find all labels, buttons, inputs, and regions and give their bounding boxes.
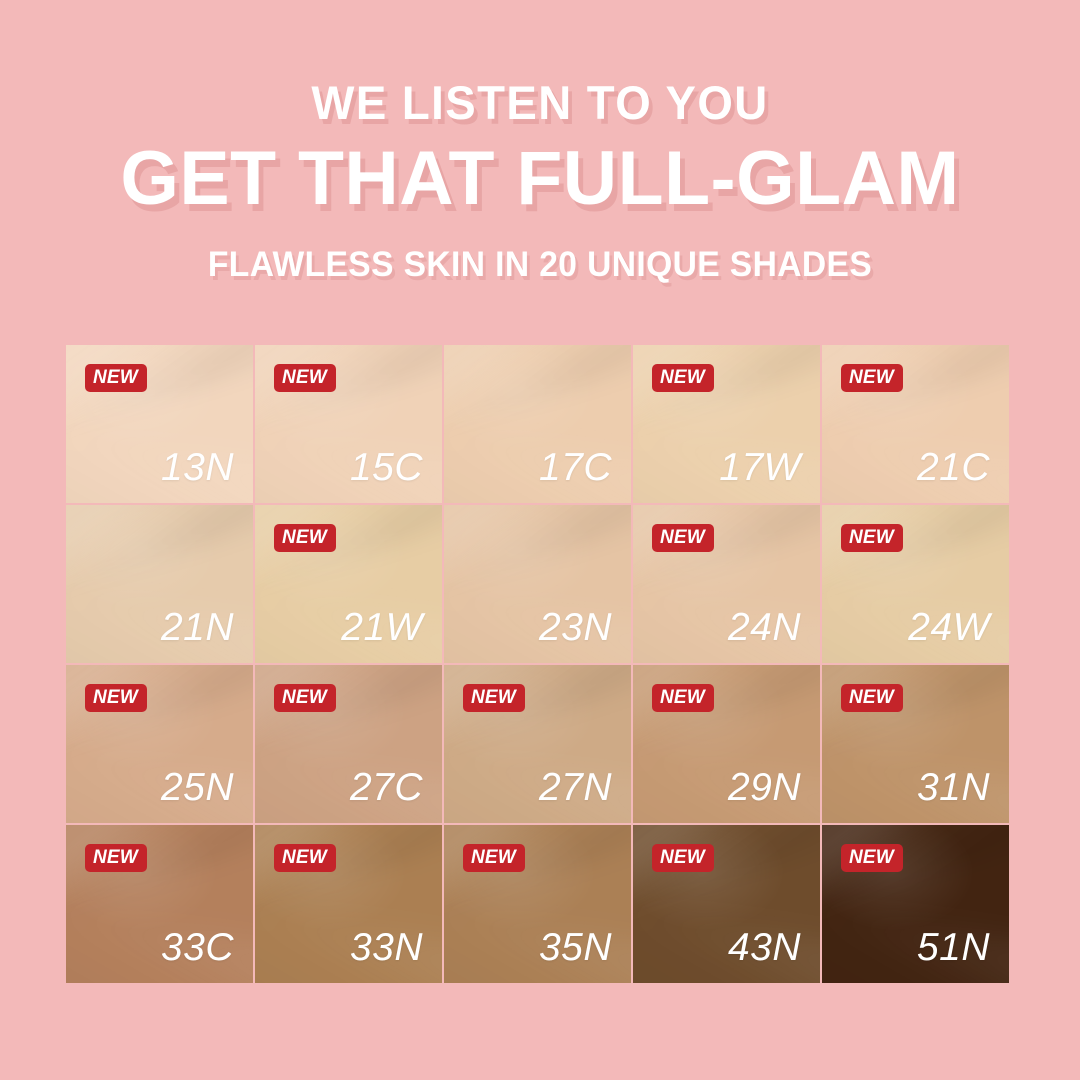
shade-code-label: 33C (161, 928, 234, 967)
shade-swatch[interactable]: NEW21C (822, 345, 1009, 503)
shade-swatch[interactable]: NEW51N (822, 825, 1009, 983)
new-badge: NEW (463, 684, 525, 712)
shade-range-poster: WE LISTEN TO YOU GET THAT FULL-GLAM FLAW… (0, 0, 1080, 1080)
new-badge: NEW (841, 844, 903, 872)
new-badge: NEW (652, 844, 714, 872)
shade-code-label: 29N (728, 768, 801, 807)
shade-code-label: 25N (161, 768, 234, 807)
shade-code-label: 27N (539, 768, 612, 807)
new-badge: NEW (85, 844, 147, 872)
shade-swatch[interactable]: NEW25N (66, 665, 253, 823)
new-badge: NEW (85, 684, 147, 712)
new-badge: NEW (85, 364, 147, 392)
shade-swatch[interactable]: NEW17W (633, 345, 820, 503)
kicker-text: WE LISTEN TO YOU (16, 78, 1064, 127)
new-badge: NEW (463, 844, 525, 872)
shade-code-label: 51N (917, 928, 990, 967)
shade-code-label: 31N (917, 768, 990, 807)
shade-swatch[interactable]: NEW24N (633, 505, 820, 663)
shade-swatch[interactable]: NEW21W (255, 505, 442, 663)
shade-swatch[interactable]: NEW33C (66, 825, 253, 983)
swatch-smear-highlight (66, 505, 253, 592)
new-badge: NEW (841, 524, 903, 552)
shade-swatch[interactable]: NEW27N (444, 665, 631, 823)
shade-swatch[interactable]: NEW13N (66, 345, 253, 503)
shade-swatch[interactable]: NEW31N (822, 665, 1009, 823)
shade-code-label: 27C (350, 768, 423, 807)
shade-code-label: 21N (161, 608, 234, 647)
shade-code-label: 13N (161, 448, 234, 487)
shade-swatch[interactable]: NEW21N (66, 505, 253, 663)
shade-code-label: 23N (539, 608, 612, 647)
shade-swatch[interactable]: NEW43N (633, 825, 820, 983)
new-badge: NEW (652, 364, 714, 392)
new-badge: NEW (841, 684, 903, 712)
shade-code-label: 21C (917, 448, 990, 487)
shade-swatch[interactable]: NEW23N (444, 505, 631, 663)
shade-code-label: 17W (719, 448, 801, 487)
new-badge: NEW (841, 364, 903, 392)
shade-swatch[interactable]: NEW29N (633, 665, 820, 823)
shade-code-label: 24N (728, 608, 801, 647)
shade-code-label: 35N (539, 928, 612, 967)
new-badge: NEW (274, 524, 336, 552)
shade-swatch[interactable]: NEW33N (255, 825, 442, 983)
headline-block: WE LISTEN TO YOU GET THAT FULL-GLAM FLAW… (0, 78, 1080, 282)
shade-swatch-grid: NEW13NNEW15CNEW17CNEW17WNEW21CNEW21NNEW2… (66, 345, 1009, 983)
subtitle-text: FLAWLESS SKIN IN 20 UNIQUE SHADES (22, 247, 1059, 282)
shade-swatch[interactable]: NEW17C (444, 345, 631, 503)
page-title: GET THAT FULL-GLAM (5, 141, 1074, 217)
new-badge: NEW (652, 524, 714, 552)
swatch-smear-highlight (444, 345, 631, 432)
shade-swatch[interactable]: NEW27C (255, 665, 442, 823)
swatch-smear-highlight (444, 505, 631, 592)
new-badge: NEW (274, 684, 336, 712)
shade-code-label: 43N (728, 928, 801, 967)
shade-code-label: 21W (341, 608, 423, 647)
new-badge: NEW (652, 684, 714, 712)
shade-code-label: 15C (350, 448, 423, 487)
shade-code-label: 17C (539, 448, 612, 487)
shade-code-label: 24W (908, 608, 990, 647)
shade-swatch[interactable]: NEW35N (444, 825, 631, 983)
shade-swatch[interactable]: NEW24W (822, 505, 1009, 663)
shade-swatch[interactable]: NEW15C (255, 345, 442, 503)
new-badge: NEW (274, 844, 336, 872)
new-badge: NEW (274, 364, 336, 392)
shade-code-label: 33N (350, 928, 423, 967)
